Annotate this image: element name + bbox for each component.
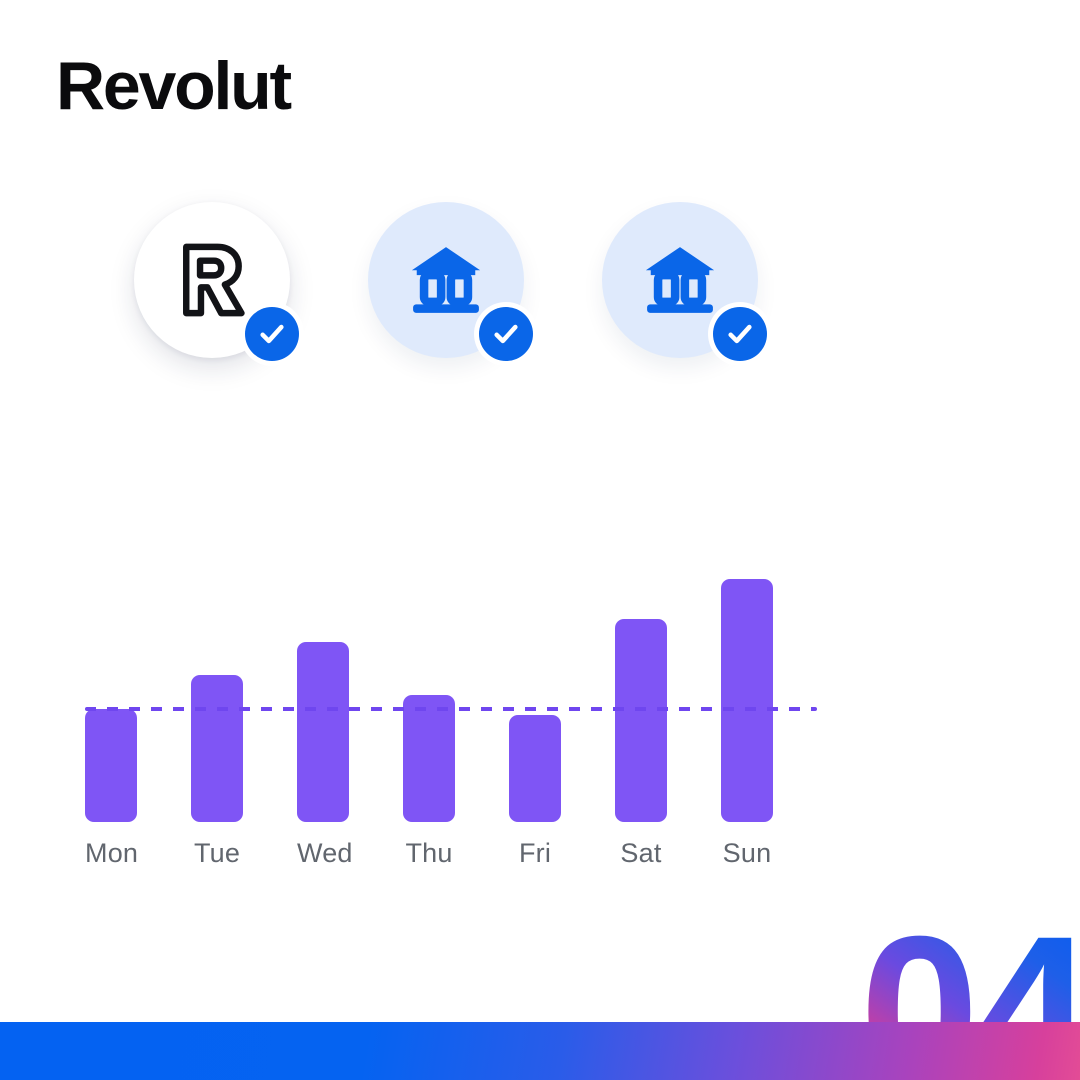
x-label-sun: Sun — [721, 838, 773, 869]
bottom-gradient-bar — [0, 1022, 1080, 1080]
verified-check-badge — [240, 302, 304, 366]
x-label-wed: Wed — [297, 838, 349, 869]
check-badge-circle — [479, 307, 533, 361]
x-label-sat: Sat — [615, 838, 667, 869]
account-badge-bank-2[interactable] — [602, 202, 758, 358]
bar-fill — [191, 675, 243, 822]
check-badge-circle — [713, 307, 767, 361]
check-badge-circle — [245, 307, 299, 361]
x-label-thu: Thu — [403, 838, 455, 869]
bar-fill — [509, 715, 561, 822]
verified-accounts-row — [0, 198, 1080, 398]
bank-icon — [641, 241, 719, 319]
chart-bar-thu[interactable] — [403, 540, 455, 822]
verified-check-badge — [474, 302, 538, 366]
chart-bars — [85, 540, 825, 822]
chart-bar-sat[interactable] — [615, 540, 667, 822]
bar-fill — [403, 695, 455, 822]
weekly-spending-chart: MonTueWedThuFriSatSun — [0, 540, 1080, 880]
bar-fill — [297, 642, 349, 822]
chart-bar-tue[interactable] — [191, 540, 243, 822]
x-label-tue: Tue — [191, 838, 243, 869]
chart-bar-sun[interactable] — [721, 540, 773, 822]
check-icon — [256, 318, 288, 350]
slide-canvas: Revolut — [0, 0, 1080, 1080]
verified-check-badge — [708, 302, 772, 366]
x-label-fri: Fri — [509, 838, 561, 869]
account-badge-bank-1[interactable] — [368, 202, 524, 358]
chart-bar-fri[interactable] — [509, 540, 561, 822]
bar-fill — [615, 619, 667, 822]
revolut-r-monogram-icon — [166, 234, 258, 326]
bar-fill — [721, 579, 773, 822]
chart-bar-mon[interactable] — [85, 540, 137, 822]
bar-fill — [85, 709, 137, 822]
average-dashed-line — [85, 707, 817, 711]
bank-icon — [407, 241, 485, 319]
revolut-wordmark: Revolut — [56, 52, 290, 120]
chart-x-axis-labels: MonTueWedThuFriSatSun — [85, 838, 825, 878]
account-badge-revolut[interactable] — [134, 202, 290, 358]
check-icon — [490, 318, 522, 350]
check-icon — [724, 318, 756, 350]
x-label-mon: Mon — [85, 838, 137, 869]
chart-bar-wed[interactable] — [297, 540, 349, 822]
